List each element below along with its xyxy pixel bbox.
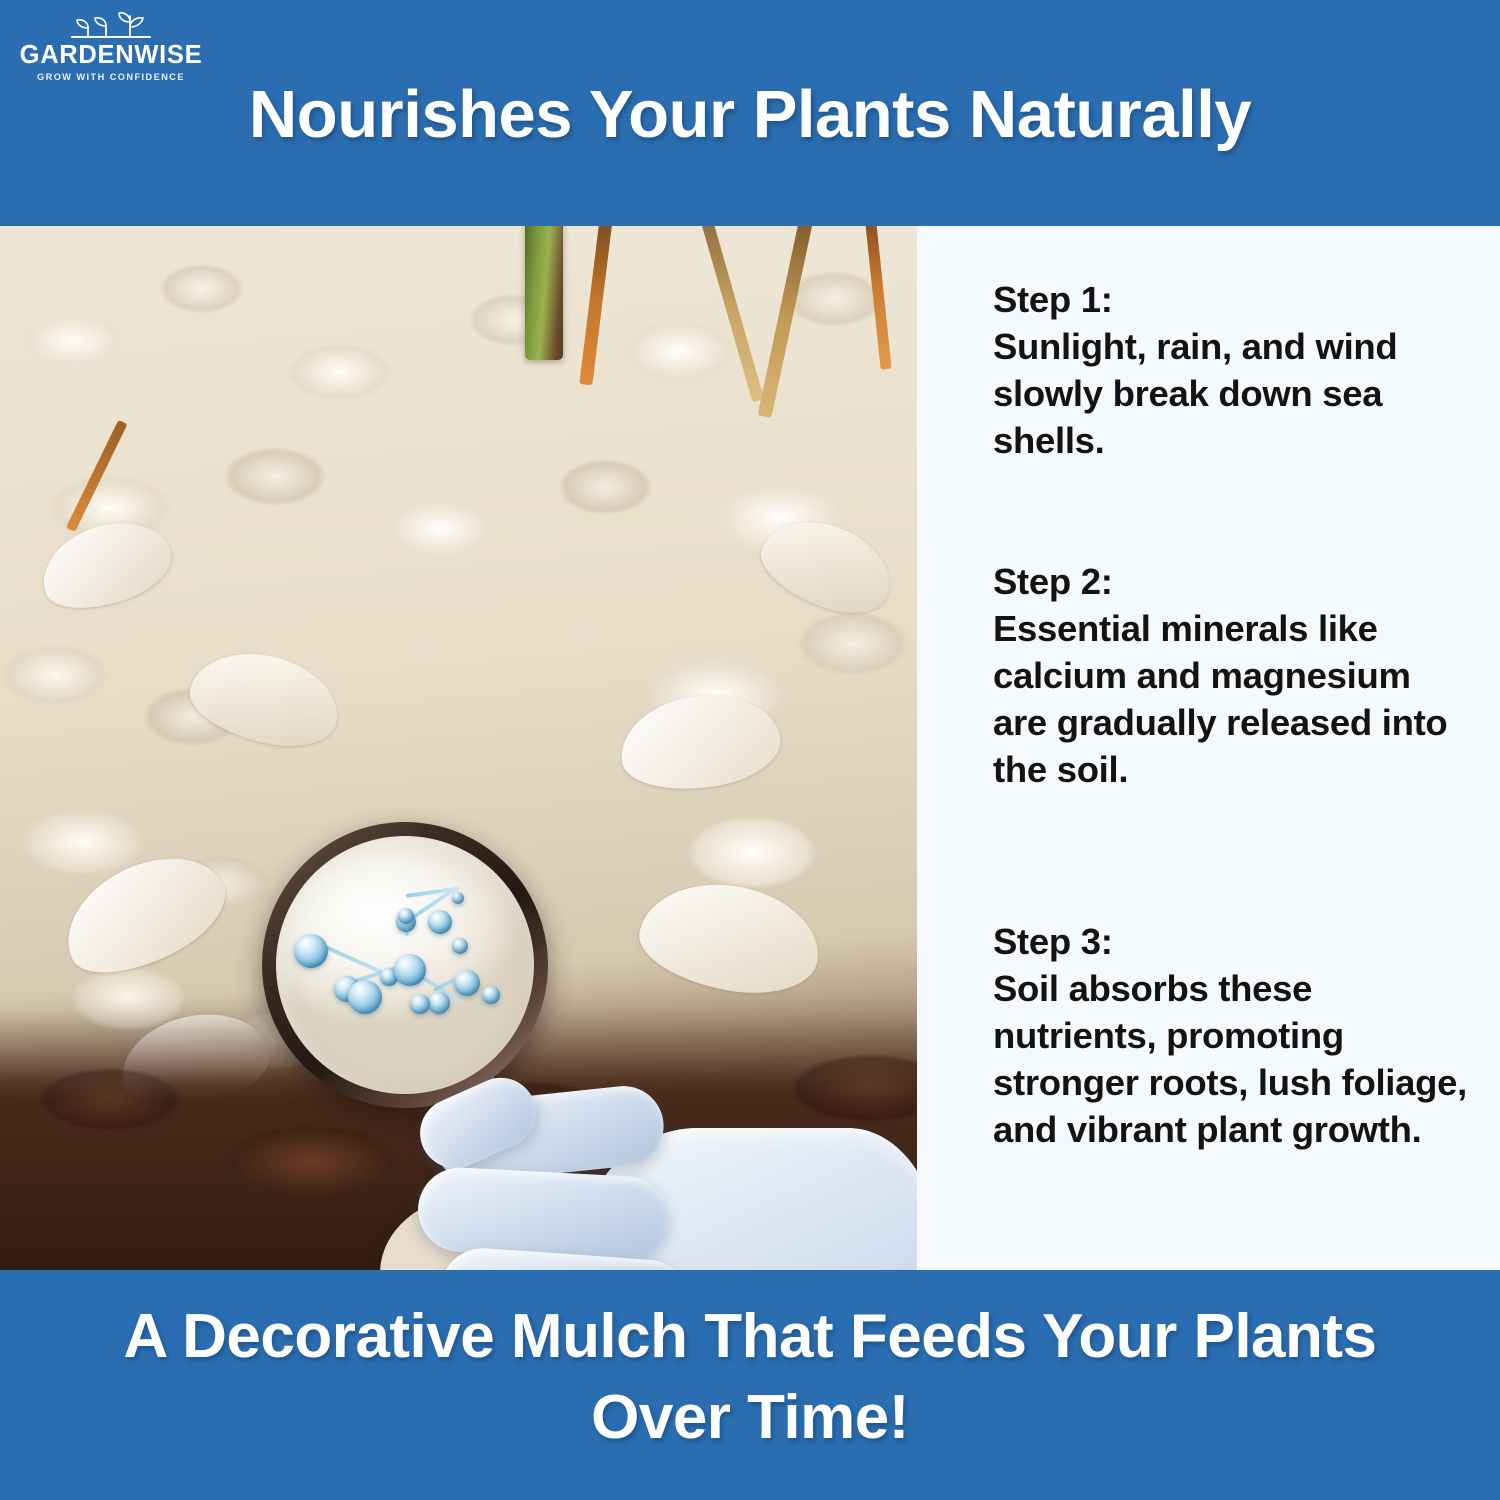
header-banner: GARDENWISE GROW WITH CONFIDENCE Nourishe… (0, 0, 1500, 226)
brand-name: GARDENWISE (16, 41, 206, 70)
molecule-node (454, 970, 480, 996)
step-2-block: Step 2: Essential minerals like calcium … (993, 558, 1473, 793)
product-photo (0, 226, 917, 1270)
step-1-label: Step 1: (993, 276, 1473, 323)
steps-panel: Step 1: Sunlight, rain, and wind slowly … (917, 226, 1500, 1270)
step-2-label: Step 2: (993, 558, 1473, 605)
molecule-node (398, 908, 414, 924)
blue-nitrile-glove (428, 1088, 917, 1270)
footer-tagline-line-1: A Decorative Mulch That Feeds Your Plant… (0, 1296, 1500, 1377)
molecule-node (410, 994, 430, 1014)
molecule-node (428, 992, 450, 1014)
infographic-page: GARDENWISE GROW WITH CONFIDENCE Nourishe… (0, 0, 1500, 1500)
molecule-node (452, 938, 468, 954)
molecule-node (348, 980, 382, 1014)
molecule-node (294, 934, 328, 968)
molecule-node (394, 954, 426, 986)
step-1-block: Step 1: Sunlight, rain, and wind slowly … (993, 276, 1473, 464)
step-2-body: Essential minerals like calcium and magn… (993, 605, 1473, 793)
molecule-node (482, 986, 500, 1004)
step-1-body: Sunlight, rain, and wind slowly break do… (993, 323, 1473, 464)
footer-tagline: A Decorative Mulch That Feeds Your Plant… (0, 1296, 1500, 1458)
page-headline: Nourishes Your Plants Naturally (0, 74, 1500, 156)
step-3-body: Soil absorbs these nutrients, promoting … (993, 965, 1473, 1153)
molecule-node (428, 910, 452, 934)
footer-banner: A Decorative Mulch That Feeds Your Plant… (0, 1270, 1500, 1500)
step-3-label: Step 3: (993, 918, 1473, 965)
magnifier-lens (276, 836, 534, 1094)
molecule-node (452, 892, 464, 904)
sprouting-plants-icon (68, 8, 154, 42)
green-plant-stem (525, 226, 563, 360)
step-3-block: Step 3: Soil absorbs these nutrients, pr… (993, 918, 1473, 1153)
glove-finger (416, 1166, 670, 1263)
magnifying-glass (262, 822, 548, 1108)
footer-tagline-line-2: Over Time! (0, 1377, 1500, 1458)
